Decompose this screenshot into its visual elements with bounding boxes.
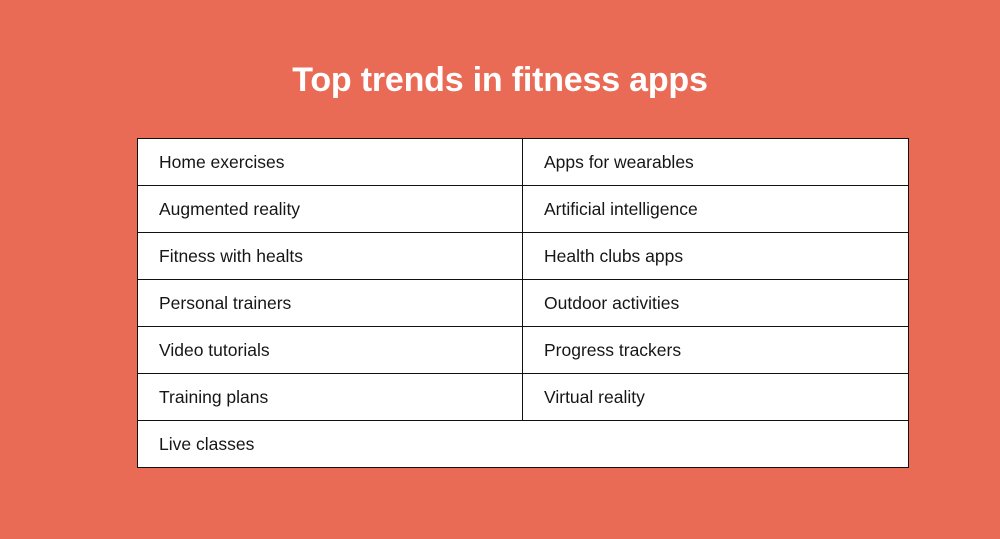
trend-cell: Health clubs apps bbox=[523, 233, 909, 280]
trend-cell: Augmented reality bbox=[138, 186, 523, 233]
trends-table-body: Home exercises Apps for wearables Augmen… bbox=[138, 139, 909, 468]
poster-canvas: Top trends in fitness apps Home exercise… bbox=[0, 0, 1000, 539]
trend-cell: Virtual reality bbox=[523, 374, 909, 421]
trend-cell: Progress trackers bbox=[523, 327, 909, 374]
page-title: Top trends in fitness apps bbox=[0, 56, 1000, 104]
trend-cell: Video tutorials bbox=[138, 327, 523, 374]
table-row: Fitness with healts Health clubs apps bbox=[138, 233, 909, 280]
trend-cell: Artificial intelligence bbox=[523, 186, 909, 233]
table-row: Training plans Virtual reality bbox=[138, 374, 909, 421]
trend-cell: Apps for wearables bbox=[523, 139, 909, 186]
table-row: Personal trainers Outdoor activities bbox=[138, 280, 909, 327]
table-row: Augmented reality Artificial intelligenc… bbox=[138, 186, 909, 233]
table-row: Live classes bbox=[138, 421, 909, 468]
trend-cell: Home exercises bbox=[138, 139, 523, 186]
trend-cell: Fitness with healts bbox=[138, 233, 523, 280]
table-row: Video tutorials Progress trackers bbox=[138, 327, 909, 374]
trends-table: Home exercises Apps for wearables Augmen… bbox=[137, 138, 909, 468]
table-row: Home exercises Apps for wearables bbox=[138, 139, 909, 186]
trend-cell: Training plans bbox=[138, 374, 523, 421]
trend-cell: Personal trainers bbox=[138, 280, 523, 327]
trend-cell: Live classes bbox=[138, 421, 909, 468]
trend-cell: Outdoor activities bbox=[523, 280, 909, 327]
